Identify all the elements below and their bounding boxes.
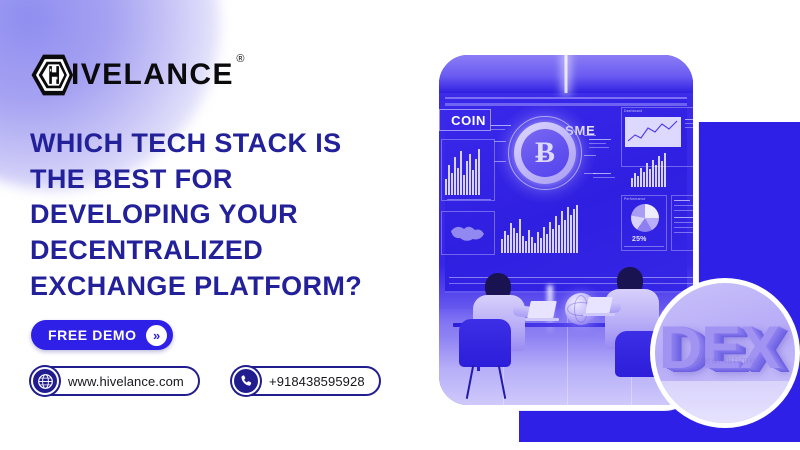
promo-banner: COIN SME xyxy=(0,0,800,450)
right-bar-chart xyxy=(631,153,666,187)
website-chip[interactable]: www.hivelance.com xyxy=(30,366,200,396)
dex-watermark: dreamstime xyxy=(694,356,756,367)
bitcoin-symbol: Ƀ xyxy=(535,138,555,168)
headline-line-4: DECENTRALIZED xyxy=(30,233,420,269)
pie-chart xyxy=(631,204,659,232)
main-bar-chart xyxy=(501,205,578,253)
phone-chip[interactable]: +918438595928 xyxy=(231,366,381,396)
chair-left xyxy=(459,319,511,367)
hexagon-h-logomark xyxy=(28,52,74,98)
headline: WHICH TECH STACK IS THE BEST FOR DEVELOP… xyxy=(30,126,420,304)
trademark-symbol: ® xyxy=(236,54,246,65)
phone-number: +918438595928 xyxy=(269,374,365,389)
coin-label-box: COIN xyxy=(439,109,491,131)
brand-name: IVELANCE® xyxy=(71,60,234,90)
headline-line-2: THE BEST FOR xyxy=(30,162,420,198)
globe-icon xyxy=(31,367,59,395)
coin-label: COIN xyxy=(451,113,486,128)
dex-badge: DEX dreamstime xyxy=(650,278,800,428)
phone-icon xyxy=(232,367,260,395)
free-demo-label: FREE DEMO xyxy=(48,327,137,343)
pie-percent-label: 25% xyxy=(632,236,647,243)
dex-badge-text: DEX xyxy=(659,313,779,382)
free-demo-button[interactable]: FREE DEMO » xyxy=(31,320,173,350)
laptop-left xyxy=(527,301,557,318)
world-map-graphic xyxy=(447,219,489,245)
brand-logo[interactable]: IVELANCE® xyxy=(28,52,234,98)
laptop-right xyxy=(585,297,612,313)
double-chevron-right-icon: » xyxy=(146,325,167,346)
headline-line-1: WHICH TECH STACK IS xyxy=(30,126,420,162)
headline-line-5: EXCHANGE PLATFORM? xyxy=(30,269,420,305)
left-bar-chart xyxy=(445,149,480,195)
website-url: www.hivelance.com xyxy=(68,374,184,389)
line-chart xyxy=(625,117,681,147)
headline-line-3: DEVELOPING YOUR xyxy=(30,197,420,233)
bitcoin-emblem: Ƀ xyxy=(507,115,583,191)
crypto-dashboard-screen: COIN SME xyxy=(445,97,687,293)
